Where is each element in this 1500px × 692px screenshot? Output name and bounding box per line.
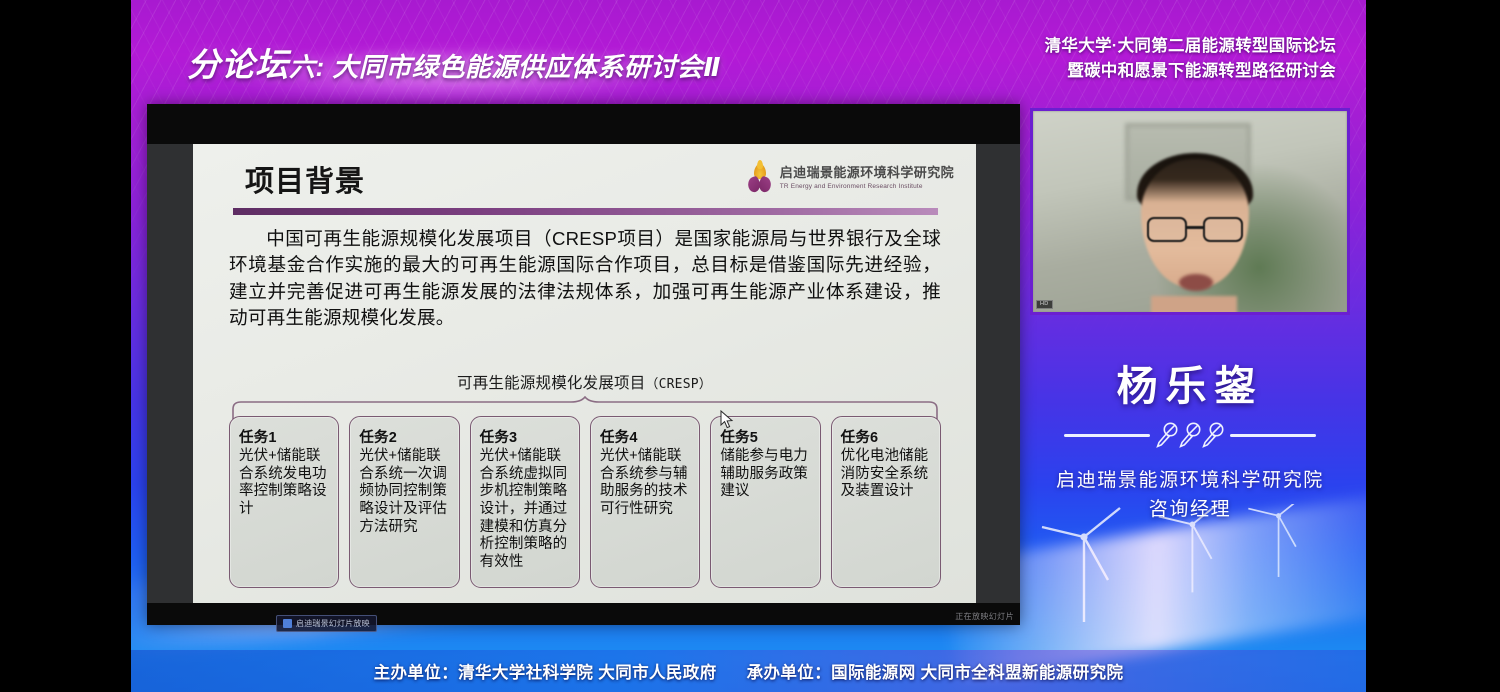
letterbox-left xyxy=(0,0,131,692)
speaker-org-line1: 启迪瑞景能源环境科学研究院 xyxy=(1000,466,1366,495)
task-card-body: 储能参与电力辅助服务政策建议 xyxy=(720,448,811,501)
task-card[interactable]: 任务4 光伏+储能联合系统参与辅助服务的技术可行性研究 xyxy=(590,416,700,588)
task-card-head: 任务6 xyxy=(841,426,932,447)
glasses-icon xyxy=(1147,217,1243,243)
conference-title-line2: 暨碳中和愿景下能源转型路径研讨会 xyxy=(1045,59,1336,84)
slide-title: 项目背景 xyxy=(245,158,365,200)
speaker-mouth xyxy=(1179,274,1213,291)
divider-line-right xyxy=(1230,434,1316,437)
task-card-body: 光伏+储能联合系统发电功率控制策略设计 xyxy=(239,448,330,519)
task-card[interactable]: 任务5 储能参与电力辅助服务政策建议 xyxy=(710,416,820,588)
flame-leaf-icon xyxy=(747,164,773,192)
microphone-icon xyxy=(1202,422,1224,448)
app-icon xyxy=(283,619,292,628)
letterbox-right xyxy=(1366,0,1500,692)
divider-line-left xyxy=(1064,434,1150,437)
institute-logo-text: 启迪瑞景能源环境科学研究院 TR Energy and Environment … xyxy=(780,166,954,189)
microphone-group-icon xyxy=(1156,422,1224,448)
forum-title: 分论坛六: 大同市绿色能源供应体系研讨会Ⅱ xyxy=(187,38,721,86)
speaker-divider xyxy=(1030,418,1350,452)
microphone-icon xyxy=(1179,422,1201,448)
video-quality-badge: HD xyxy=(1036,300,1053,310)
program-label-en: （CRESP） xyxy=(645,377,712,392)
task-card-body: 光伏+储能联合系统虚拟同步机控制策略设计，并通过建模和仿真分析控制策略的有效性 xyxy=(480,448,571,572)
speaker-neck xyxy=(1151,296,1237,315)
forum-title-suffix: 六: 大同市绿色能源供应体系研讨会 xyxy=(289,52,703,82)
share-taskbar-item[interactable]: 启迪瑞景幻灯片放映 xyxy=(276,615,377,632)
speaker-video-tile[interactable]: HD xyxy=(1030,108,1350,315)
forum-title-roman: Ⅱ xyxy=(703,52,721,82)
task-card-head: 任务5 xyxy=(720,426,811,447)
share-top-band xyxy=(147,104,1020,144)
conference-title: 清华大学·大同第二届能源转型国际论坛 暨碳中和愿景下能源转型路径研讨会 xyxy=(1045,34,1336,84)
task-card-head: 任务2 xyxy=(359,426,450,447)
task-card-head: 任务4 xyxy=(600,426,691,447)
task-card[interactable]: 任务1 光伏+储能联合系统发电功率控制策略设计 xyxy=(229,416,339,588)
mouse-pointer-icon xyxy=(720,410,734,430)
speaker-name: 杨乐鋆 xyxy=(1030,352,1350,412)
institute-name-en: TR Energy and Environment Research Insti… xyxy=(780,183,954,190)
slide-paragraph: 中国可再生能源规模化发展项目（CRESP项目）是国家能源局与世界银行及全球环境基… xyxy=(229,226,941,332)
glasses-bridge xyxy=(1187,226,1203,229)
footer-host-label: 主办单位：清华大学社科学院 大同市人民政府 xyxy=(374,659,717,683)
task-card-body: 光伏+储能联合系统参与辅助服务的技术可行性研究 xyxy=(600,448,691,519)
title-underline-rule xyxy=(233,208,938,215)
institute-logo: 启迪瑞景能源环境科学研究院 TR Energy and Environment … xyxy=(747,164,954,192)
task-card-head: 任务3 xyxy=(480,426,571,447)
screen-share-panel[interactable]: 正在放映幻灯片 项目背景 启迪瑞景能源环境科学研究院 TR Energy and… xyxy=(147,104,1020,625)
task-card-body: 光伏+储能联合系统一次调频协同控制策略设计及评估方法研究 xyxy=(359,448,450,536)
presentation-slide[interactable]: 项目背景 启迪瑞景能源环境科学研究院 TR Energy and Environ… xyxy=(193,144,976,603)
glasses-lens-right xyxy=(1203,217,1243,242)
task-card[interactable]: 任务6 优化电池储能消防安全系统及装置设计 xyxy=(831,416,941,588)
footer-organizer-label: 承办单位：国际能源网 大同市全科盟新能源研究院 xyxy=(747,659,1124,683)
speaker-affiliation: 启迪瑞景能源环境科学研究院 咨询经理 xyxy=(1000,466,1366,525)
program-label-cn: 可再生能源规模化发展项目 xyxy=(457,375,645,392)
share-taskbar-item-label: 启迪瑞景幻灯片放映 xyxy=(296,618,370,629)
slideshow-status-text: 正在放映幻灯片 xyxy=(955,611,1014,622)
task-card[interactable]: 任务3 光伏+储能联合系统虚拟同步机控制策略设计，并通过建模和仿真分析控制策略的… xyxy=(470,416,580,588)
forum-title-prefix: 分论坛 xyxy=(187,46,289,83)
footer-bar: 主办单位：清华大学社科学院 大同市人民政府 承办单位：国际能源网 大同市全科盟新… xyxy=(131,650,1366,692)
task-card[interactable]: 任务2 光伏+储能联合系统一次调频协同控制策略设计及评估方法研究 xyxy=(349,416,459,588)
program-label: 可再生能源规模化发展项目（CRESP） xyxy=(193,371,976,393)
task-card-head: 任务1 xyxy=(239,426,330,447)
task-list: 任务1 光伏+储能联合系统发电功率控制策略设计 任务2 光伏+储能联合系统一次调… xyxy=(229,416,941,588)
speaker-org-line2: 咨询经理 xyxy=(1000,495,1366,524)
conference-title-line1: 清华大学·大同第二届能源转型国际论坛 xyxy=(1045,34,1336,59)
glasses-lens-left xyxy=(1147,217,1187,242)
institute-name-cn: 启迪瑞景能源环境科学研究院 xyxy=(780,166,954,180)
task-card-body: 优化电池储能消防安全系统及装置设计 xyxy=(841,448,932,501)
microphone-icon xyxy=(1156,422,1178,448)
broadcast-stage: 分论坛六: 大同市绿色能源供应体系研讨会Ⅱ 清华大学·大同第二届能源转型国际论坛… xyxy=(131,0,1366,692)
